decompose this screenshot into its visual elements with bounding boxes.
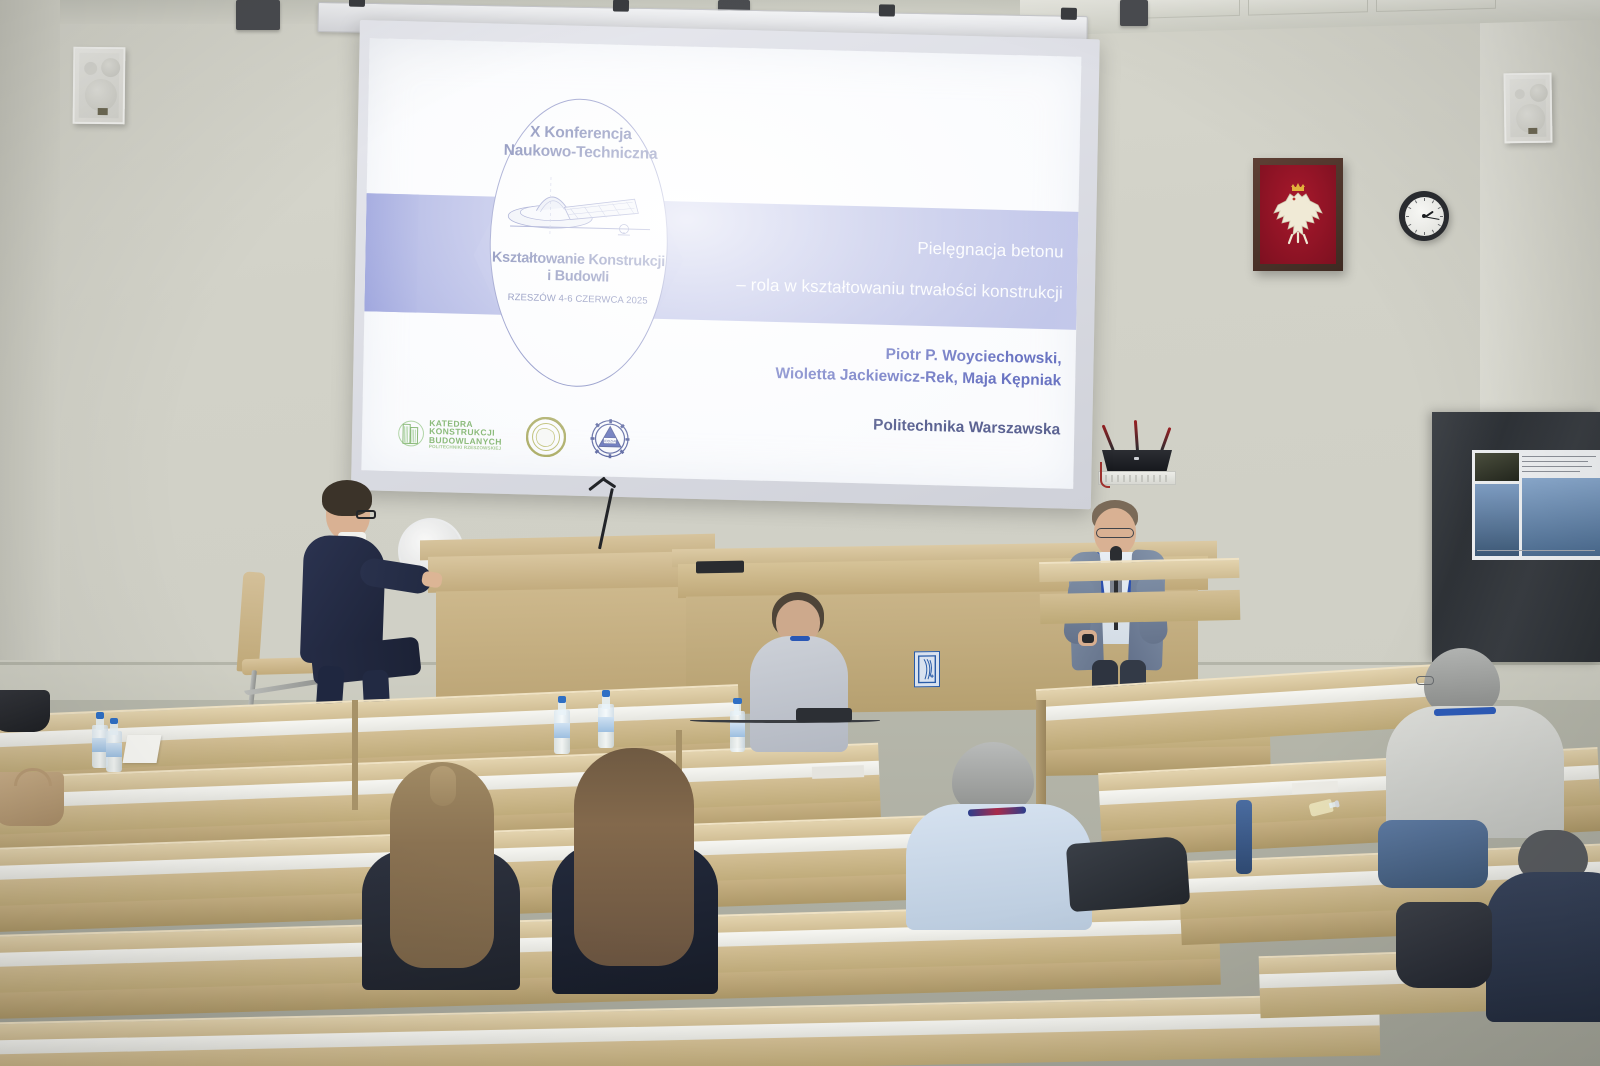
water-bottle-stage-2 bbox=[598, 690, 614, 748]
front-center-top bbox=[750, 636, 848, 752]
backpack-right bbox=[1396, 902, 1492, 988]
conference-poster bbox=[1472, 450, 1600, 560]
svg-text:ODDZIAŁ: ODDZIAŁ bbox=[602, 439, 617, 443]
wall-clock bbox=[1399, 191, 1449, 241]
audience-woman-center bbox=[552, 748, 720, 998]
moderator-glasses bbox=[356, 510, 376, 519]
dark-jacket-on-bench bbox=[1066, 836, 1190, 912]
audience-man-blue-shirt bbox=[906, 742, 1096, 932]
water-bottle-stage-1 bbox=[554, 696, 570, 754]
white-eagle-icon bbox=[1268, 179, 1328, 251]
presentation-slide[interactable]: X Konferencja Naukowo-Techniczna bbox=[361, 38, 1081, 489]
slide-accent-band-left bbox=[364, 193, 418, 312]
paper-on-bench bbox=[812, 765, 864, 779]
handheld-microphone[interactable] bbox=[1110, 546, 1122, 561]
grey-shirt-glasses bbox=[1416, 676, 1434, 685]
grey-shirt-jeans bbox=[1378, 820, 1488, 888]
upper-bench-right bbox=[1039, 558, 1241, 652]
desk-control-pad[interactable] bbox=[696, 561, 744, 574]
slide-affiliation: Politechnika Warszawska bbox=[590, 409, 1060, 439]
logo-katedra-line4: POLITECHNIKI RZESZOWSKIEJ bbox=[429, 445, 502, 452]
name-card bbox=[123, 735, 162, 763]
chair-back-right bbox=[1236, 800, 1252, 874]
wall-speaker-left bbox=[73, 47, 126, 125]
ceiling-projector-mount bbox=[236, 0, 280, 30]
presenter-glasses bbox=[1096, 528, 1134, 538]
katedra-konstrukcji-budowlanych-logo: KATEDRA KONSTRUKCJI BUDOWLANYCH POLITECH… bbox=[398, 418, 502, 451]
blue-shirt-top bbox=[906, 804, 1092, 930]
clock-face bbox=[1405, 197, 1444, 236]
polish-coat-of-arms-frame bbox=[1253, 158, 1343, 271]
wall-speaker-right bbox=[1504, 73, 1553, 144]
blue-shirt-hair bbox=[952, 742, 1034, 812]
lecture-hall-scene: X Konferencja Naukowo-Techniczna bbox=[0, 0, 1600, 1066]
induction-loop-icon bbox=[918, 655, 936, 683]
audience-front-center bbox=[744, 592, 854, 762]
podkarpacka-izba-inzynierow-logo bbox=[526, 416, 567, 457]
pzitb-oddzial-rzeszow-logo: ODDZIAŁ bbox=[590, 418, 631, 459]
audience-woman-left bbox=[362, 762, 522, 992]
projection-screen[interactable]: X Konferencja Naukowo-Techniczna bbox=[351, 20, 1100, 509]
audience-man-right-edge bbox=[1496, 830, 1600, 1030]
emblem-date-location: RZESZÓW 4-6 CZERWCA 2025 bbox=[508, 292, 648, 307]
woman-left-hair-part bbox=[430, 766, 456, 806]
floor-power-box bbox=[796, 708, 852, 722]
left-wall-return bbox=[0, 0, 60, 700]
black-bag-left bbox=[0, 690, 50, 732]
water-bottle-stage-3 bbox=[730, 698, 745, 752]
ceiling-mount-3 bbox=[1120, 0, 1148, 26]
building-outline-icon bbox=[398, 418, 425, 449]
water-bottle-left-2 bbox=[106, 718, 122, 772]
front-center-lanyard bbox=[790, 636, 810, 641]
grey-shirt-hair bbox=[1424, 648, 1500, 714]
coat-of-arms-field bbox=[1260, 165, 1336, 264]
accessibility-sticker bbox=[914, 651, 940, 687]
poster-board bbox=[1432, 412, 1600, 662]
clock-minute-hand bbox=[1424, 216, 1439, 220]
right-edge-jacket bbox=[1486, 872, 1600, 1022]
woman-center-hair bbox=[574, 748, 694, 966]
wifi-router bbox=[1098, 440, 1176, 472]
slide-logo-row: KATEDRA KONSTRUKCJI BUDOWLANYCH POLITECH… bbox=[398, 413, 631, 459]
grey-shirt-top bbox=[1386, 706, 1564, 838]
emblem-title-line2: Naukowo-Techniczna bbox=[503, 142, 657, 165]
